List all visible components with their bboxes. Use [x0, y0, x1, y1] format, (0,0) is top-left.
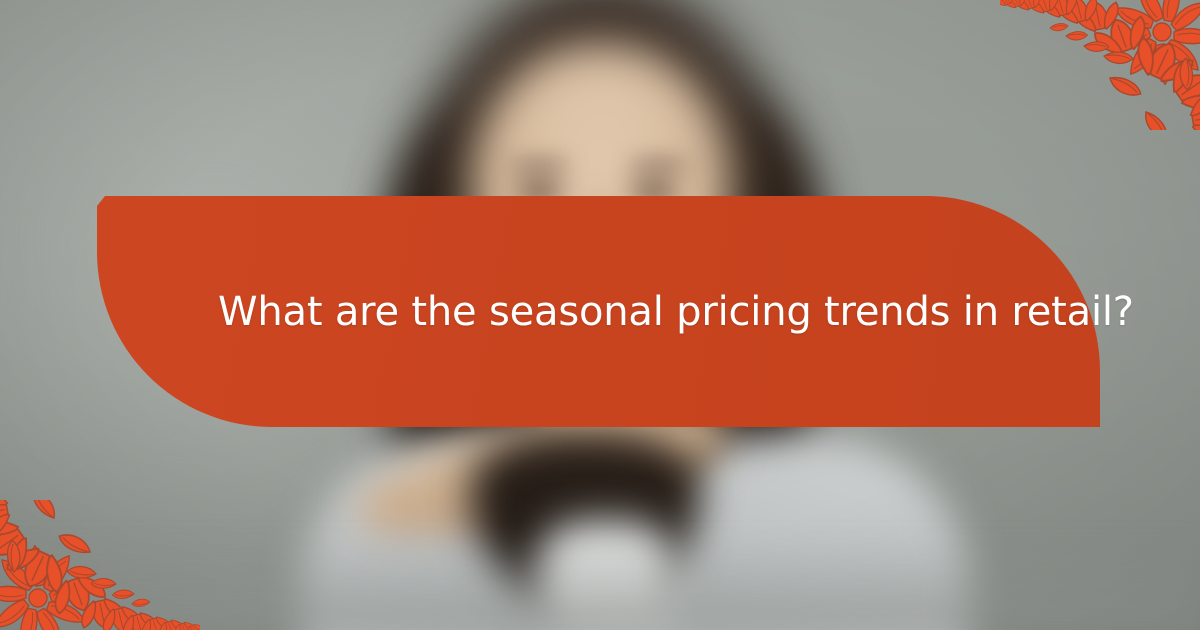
headline-banner: What are the seasonal pricing trends in … — [97, 196, 1100, 427]
social-card-canvas: What are the seasonal pricing trends in … — [0, 0, 1200, 630]
headline-text: What are the seasonal pricing trends in … — [218, 196, 1134, 427]
